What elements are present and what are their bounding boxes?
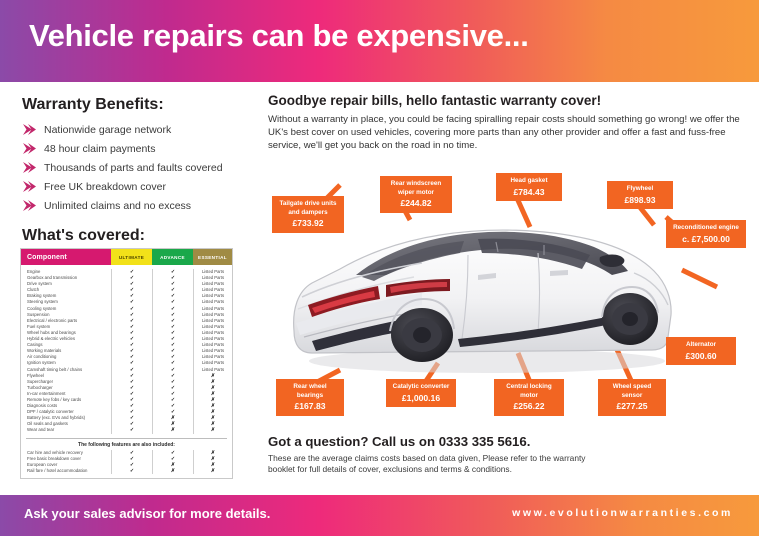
arrow-bullet-icon [22,161,37,174]
intro-heading: Goodbye repair bills, hello fantastic wa… [268,93,746,108]
benefit-item: Unlimited claims and no excess [22,199,254,212]
callout-price: c. £7,500.00 [671,235,741,244]
component-name: Wear and tear [27,427,111,433]
component-name: Rail fare / hotel accommodation [27,468,111,474]
callout-tailgate-drive-units: Tailgate drive units and dampers £733.92 [272,196,344,233]
callout-rear-wheel-bearings: Rear wheel bearings £167.83 [276,379,344,416]
callout-label: Alternator [671,341,731,350]
coverage-mark-essential: ✗ [194,427,232,433]
poster-page: Vehicle repairs can be expensive... Warr… [0,0,759,536]
footer-banner: Ask your sales advisor for more details.… [0,495,759,536]
callout-alternator: Alternator £300.60 [666,337,736,365]
callout-catalytic-converter: Catalytic converter £1,000.16 [386,379,456,407]
contact-heading: Got a question? Call us on 0333 335 5616… [268,434,608,449]
arrow-bullet-icon [22,180,37,193]
table-column-essential: Listed PartsListed PartsListed PartsList… [193,269,232,434]
whats-covered-heading: What's covered: [22,227,254,245]
features-heading: The following features are also included… [26,438,227,448]
callout-head-gasket: Head gasket £784.43 [496,173,562,201]
benefit-item: Nationwide garage network [22,123,254,136]
benefit-label: 48 hour claim payments [44,143,155,155]
column-header-ultimate: ULTIMATE [111,249,152,265]
callout-label: Rear wheel bearings [281,383,339,400]
benefit-item: Thousands of parts and faults covered [22,161,254,174]
coverage-mark-essential: ✗ [194,468,232,474]
column-header-advance: ADVANCE [152,249,193,265]
intro-section: Goodbye repair bills, hello fantastic wa… [268,93,746,153]
benefit-label: Thousands of parts and faults covered [44,162,223,174]
coverage-table: Component ULTIMATE ADVANCE ESSENTIAL Eng… [20,248,233,479]
callout-reconditioned-engine: Reconditioned engine c. £7,500.00 [666,220,746,248]
table-body: EngineGearbox and transmissionDrive syst… [21,265,232,436]
table-column-ultimate: ✓✓✓✓✓✓✓✓✓✓✓✓✓✓✓✓✓✓✓✓✓✓✓✓✓✓✓ [111,269,152,434]
callout-price: £277.25 [603,402,661,411]
callout-label: Reconditioned engine [671,224,741,233]
benefit-label: Unlimited claims and no excess [44,200,191,212]
features-column-component: Car hire and vehicle recoveryFree basic … [21,450,111,474]
coverage-mark-advance: ✗ [153,427,193,433]
callout-rear-windscreen-wiper-motor: Rear windscreen wiper motor £244.82 [380,176,452,213]
callout-label: Flywheel [612,185,668,194]
contact-disclaimer: These are the average claims costs based… [268,453,608,475]
coverage-mark-advance: ✗ [153,468,193,474]
callout-wheel-speed-sensor: Wheel speed sensor £277.25 [598,379,666,416]
table-column-advance: ✓✓✓✓✓✓✓✓✓✓✓✓✓✓✓✓✓✓✓✓✓✓✓✓✗✗✗ [152,269,193,434]
intro-paragraph: Without a warranty in place, you could b… [268,113,746,153]
features-column-ultimate: ✓✓✓✓ [111,450,152,474]
callout-price: £167.83 [281,402,339,411]
footer-website[interactable]: www.evolutionwarranties.com [512,507,733,519]
arrow-bullet-icon [22,199,37,212]
features-body: Car hire and vehicle recoveryFree basic … [21,448,232,478]
features-column-advance: ✓✓✗✗ [152,450,193,474]
callout-label: Wheel speed sensor [603,383,661,400]
header-banner: Vehicle repairs can be expensive... [0,0,759,82]
callout-price: £1,000.16 [391,394,451,403]
callout-label: Head gasket [501,177,557,186]
benefit-label: Free UK breakdown cover [44,181,166,193]
callout-price: £733.92 [277,219,339,228]
callout-price: £244.82 [385,199,447,208]
coverage-mark-ultimate: ✓ [112,427,152,433]
contact-section: Got a question? Call us on 0333 335 5616… [268,434,608,475]
benefit-label: Nationwide garage network [44,124,171,136]
page-title: Vehicle repairs can be expensive... [29,18,529,54]
callout-flywheel: Flywheel £898.93 [607,181,673,209]
vehicle-cost-diagram: Tailgate drive units and dampers £733.92… [262,165,756,420]
callout-label: Central locking motor [499,383,559,400]
coverage-mark-ultimate: ✓ [112,468,152,474]
benefit-item: Free UK breakdown cover [22,180,254,193]
car-illustration [282,213,682,378]
callout-price: £784.43 [501,188,557,197]
callout-label: Tailgate drive units and dampers [277,200,339,217]
table-column-component: EngineGearbox and transmissionDrive syst… [21,269,111,434]
benefit-item: 48 hour claim payments [22,142,254,155]
callout-central-locking-motor: Central locking motor £256.22 [494,379,564,416]
footer-cta: Ask your sales advisor for more details. [24,506,270,521]
warranty-benefits-section: Warranty Benefits: Nationwide garage net… [22,96,254,245]
callout-label: Rear windscreen wiper motor [385,180,447,197]
benefits-heading: Warranty Benefits: [22,96,254,114]
column-header-component: Component [21,249,111,265]
callout-price: £256.22 [499,402,559,411]
arrow-bullet-icon [22,142,37,155]
callout-label: Catalytic converter [391,383,451,392]
benefits-list: Nationwide garage network48 hour claim p… [22,123,254,212]
callout-price: £898.93 [612,196,668,205]
features-column-essential: ✗✗✗✗ [193,450,232,474]
arrow-bullet-icon [22,123,37,136]
column-header-essential: ESSENTIAL [193,249,232,265]
callout-price: £300.60 [671,352,731,361]
table-header-row: Component ULTIMATE ADVANCE ESSENTIAL [21,249,232,265]
